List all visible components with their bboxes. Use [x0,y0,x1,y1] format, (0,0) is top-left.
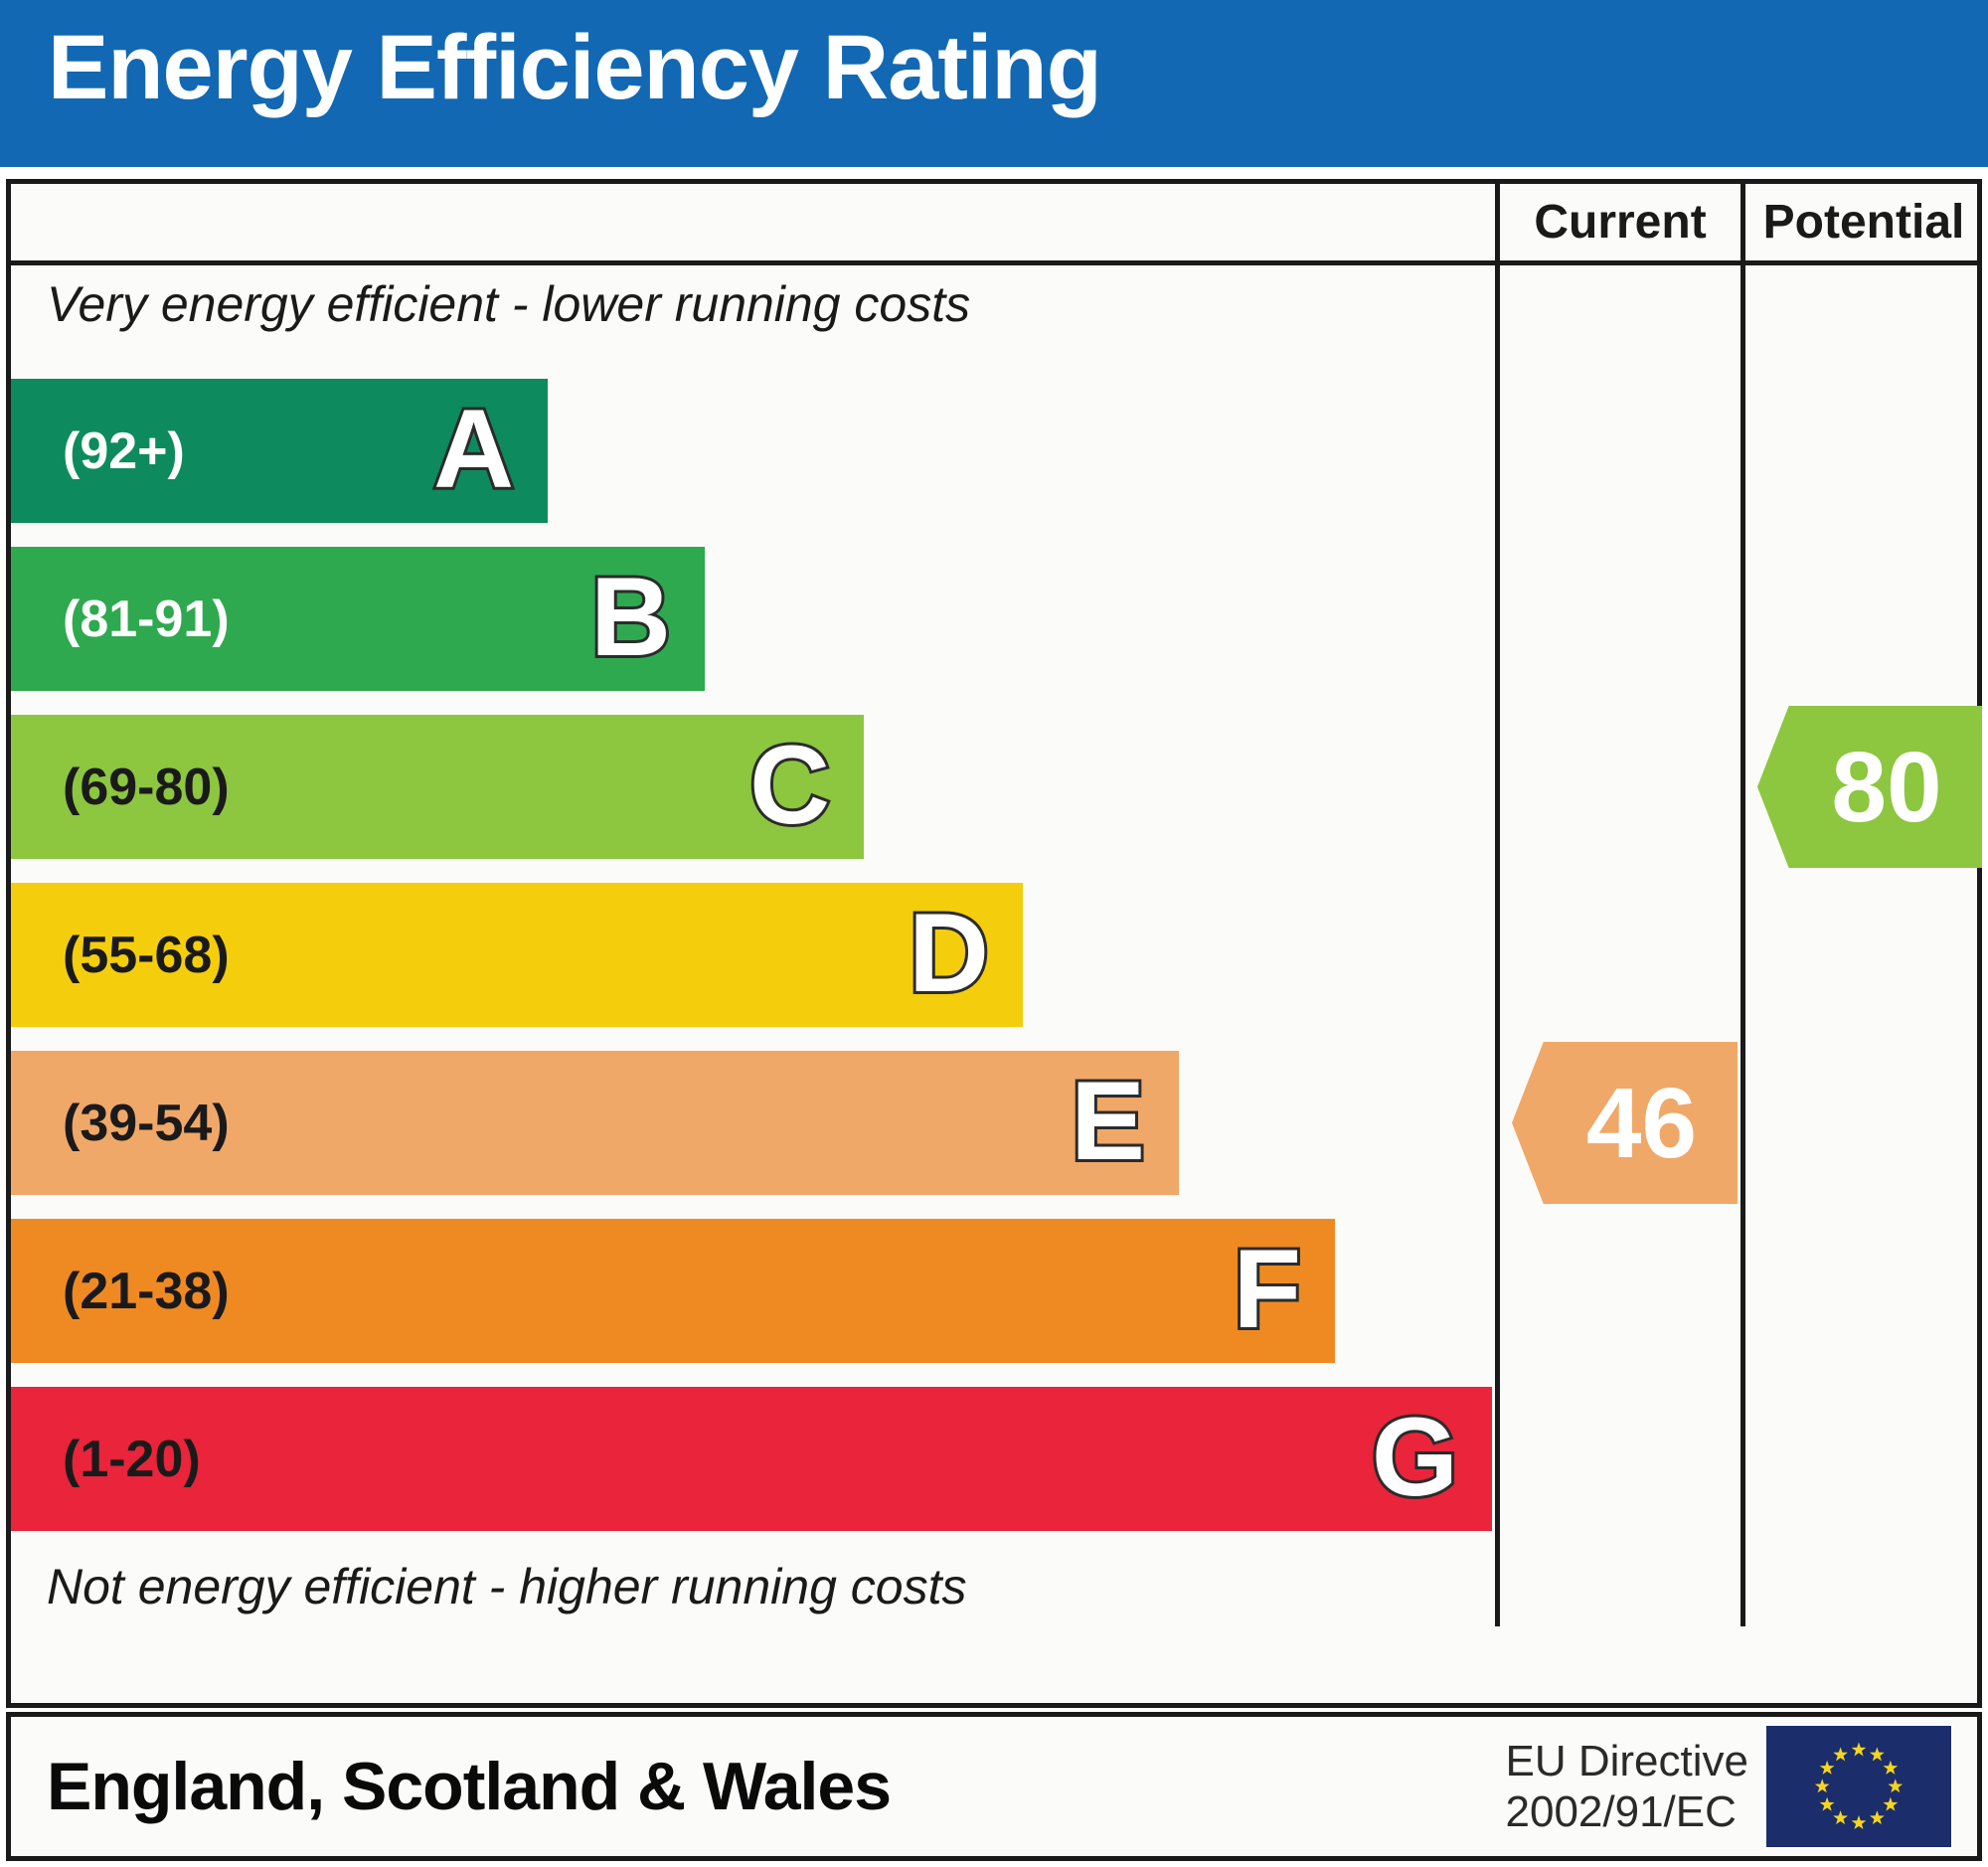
footer-bar: England, Scotland & Wales EU Directive 2… [6,1712,1982,1861]
band-bar-e: (39-54)E [11,1051,1179,1195]
band-bar-list: (92+)A(81-91)B(69-80)C(55-68)D(39-54)E(2… [11,379,1485,1552]
band-letter-c: C [749,729,830,840]
band-range-label-g: (1-20) [63,1430,201,1489]
column-header-row: Current Potential [11,184,1977,265]
column-divider-current [1495,265,1500,1626]
epc-energy-efficiency-chart: Energy Efficiency Rating Current Potenti… [0,0,1988,1867]
band-letter-a: A [433,393,514,504]
band-bar-a: (92+)A [11,379,548,523]
footer-region-label: England, Scotland & Wales [47,1748,891,1825]
band-range-label-c: (69-80) [63,758,230,817]
band-bar-b: (81-91)B [11,547,705,691]
column-divider-potential [1740,265,1745,1626]
band-range-label-d: (55-68) [63,926,230,985]
band-bar-f: (21-38)F [11,1219,1335,1363]
footer-directive-line2: 2002/91/EC [1506,1786,1749,1837]
page-title: Energy Efficiency Rating [48,22,1101,113]
column-header-potential: Potential [1740,184,1982,260]
band-bar-d: (55-68)D [11,883,1023,1027]
footer-directive: EU Directive 2002/91/EC [1506,1736,1749,1837]
caption-not-efficient: Not energy efficient - higher running co… [47,1558,967,1615]
band-range-label-f: (21-38) [63,1262,230,1321]
band-letter-b: B [590,561,671,672]
rating-table: Current Potential Very energy efficient … [6,179,1982,1708]
eu-stars-icon [1766,1726,1951,1847]
band-range-label-b: (81-91) [63,590,230,649]
band-letter-g: G [1372,1401,1458,1512]
band-letter-e: E [1071,1065,1145,1176]
current-rating-badge: 46 [1512,1042,1738,1204]
band-bar-c: (69-80)C [11,715,864,859]
band-bar-g: (1-20)G [11,1387,1492,1531]
band-letter-d: D [909,897,989,1008]
column-header-current: Current [1495,184,1740,260]
footer-directive-line1: EU Directive [1506,1736,1749,1786]
potential-rating-badge: 80 [1757,706,1982,868]
band-letter-f: F [1234,1233,1301,1344]
eu-flag-icon [1764,1724,1953,1849]
chart-header-band: Energy Efficiency Rating [0,0,1988,167]
band-range-label-a: (92+) [63,422,185,481]
potential-rating-value: 80 [1797,738,1941,837]
band-range-label-e: (39-54) [63,1094,230,1153]
caption-very-efficient: Very energy efficient - lower running co… [47,275,970,333]
current-rating-value: 46 [1553,1074,1697,1173]
